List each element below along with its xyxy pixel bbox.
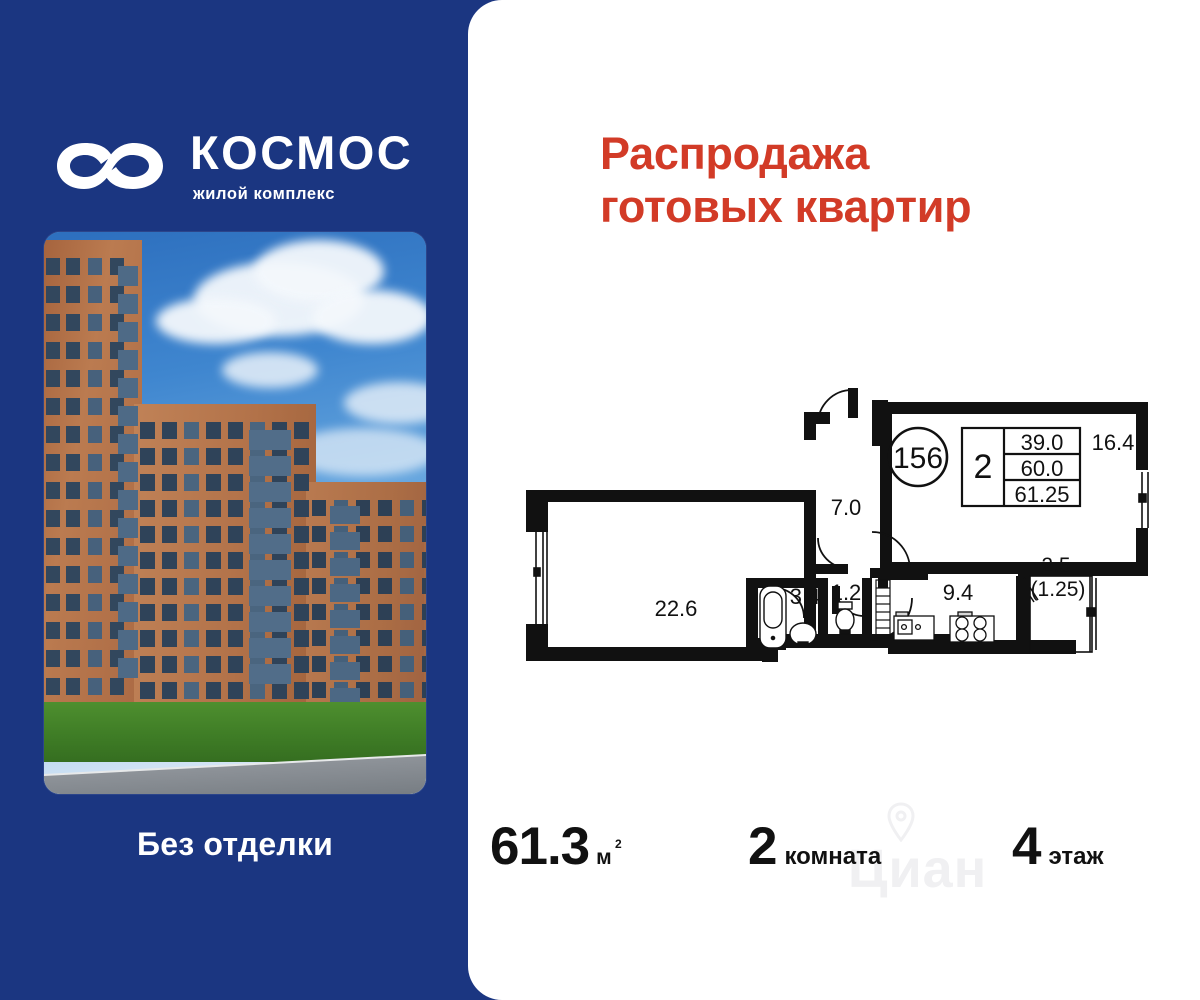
stat-floor: 4 этаж: [1012, 820, 1104, 873]
rooms-badge: 2: [974, 448, 993, 486]
finish-caption: Без отделки: [0, 826, 470, 863]
stat-area: 61.3 м 2: [490, 820, 612, 873]
stat-floor-value: 4: [1012, 820, 1040, 873]
stat-rooms: 2 комната: [748, 820, 881, 873]
page-title: Распродажа готовых квартир: [600, 128, 1160, 233]
stat-area-unit-label: м: [596, 846, 612, 869]
area-total: 61.25: [1014, 482, 1069, 507]
headline-line-2: готовых квартир: [600, 181, 1160, 234]
room-area-kitchen: 9.4: [943, 580, 974, 605]
floor-plan-drawing: 156 2 39.0 60.0 61.25 16.4 22.6 7.0 3.4: [518, 372, 1168, 672]
floor-plan: 156 2 39.0 60.0 61.25 16.4 22.6 7.0 3.4: [518, 372, 1168, 672]
brand-name: КОСМОС: [190, 129, 413, 176]
room-area-living-room: 22.6: [655, 596, 698, 621]
apartment-stats: 61.3 м 2 2 комната 4 этаж: [490, 808, 1190, 898]
stat-area-unit: м 2: [596, 846, 612, 870]
stat-rooms-value: 2: [748, 820, 776, 873]
stat-area-value: 61.3: [490, 820, 589, 873]
room-area-bedroom: 16.4: [1092, 430, 1135, 455]
content-card: Распродажа готовых квартир: [468, 0, 1200, 1000]
balcony-area-coefficient: (1.25): [1031, 578, 1086, 601]
apartment-number: 156: [893, 442, 943, 475]
lawn: [44, 702, 426, 762]
promo-banner: КОСМОС жилой комплекс: [0, 0, 1200, 1000]
stat-area-unit-sup: 2: [615, 837, 622, 851]
building-photo: [44, 232, 426, 794]
brand-logo: КОСМОС жилой комплекс: [52, 118, 442, 214]
stat-floor-unit: этаж: [1048, 843, 1103, 871]
room-area-hallway: 7.0: [831, 495, 862, 520]
area-total-no-balcony: 60.0: [1021, 456, 1064, 481]
left-brand-panel: КОСМОС жилой комплекс: [0, 0, 470, 1000]
stat-rooms-unit: комната: [784, 843, 881, 871]
headline-line-1: Распродажа: [600, 128, 1160, 181]
area-living: 39.0: [1021, 430, 1064, 455]
room-area-bathroom: 3.4: [790, 584, 821, 609]
brand-subtitle: жилой комплекс: [193, 185, 335, 204]
area-info-table: 2 39.0 60.0 61.25: [962, 428, 1080, 507]
room-area-wc: 1.2: [831, 580, 862, 605]
balcony-area: 2.5: [1041, 554, 1070, 577]
infinity-icon: [52, 135, 168, 197]
